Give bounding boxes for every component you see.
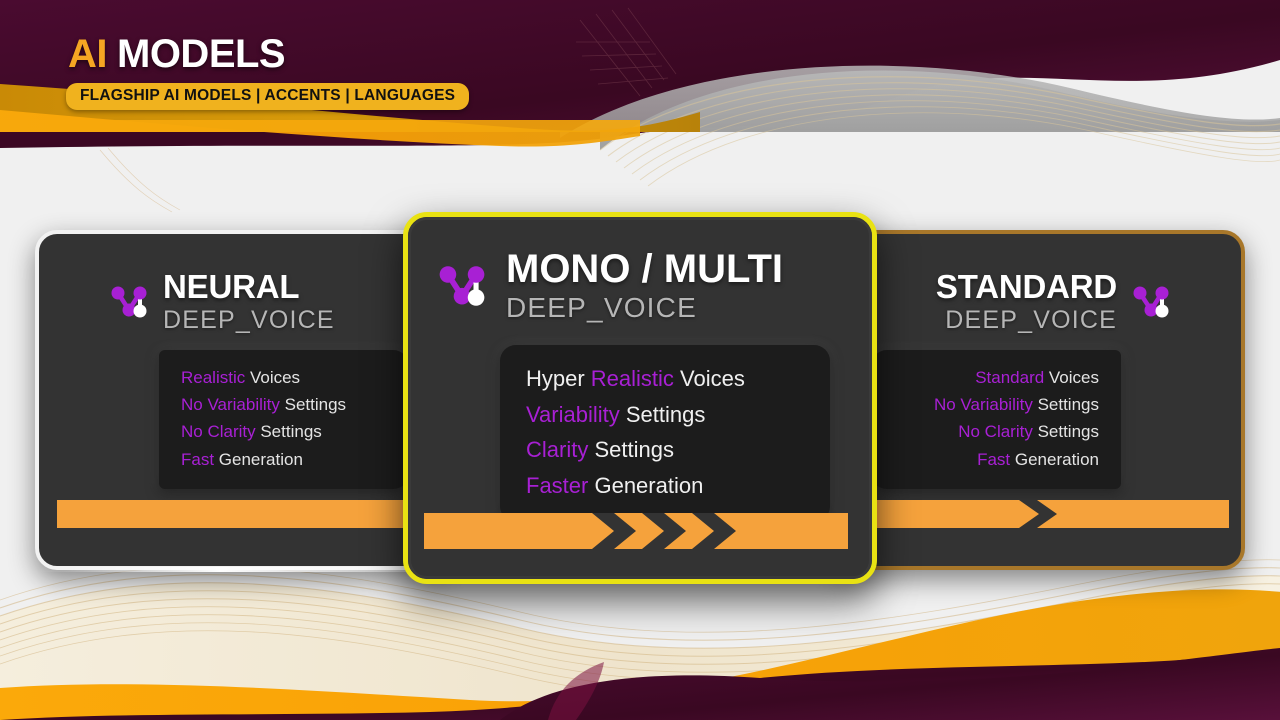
card-titles-neural: NEURAL DEEP_VOICE	[163, 270, 335, 333]
feature-highlight: Fast	[977, 450, 1010, 469]
feature-item: No Clarity Settings	[893, 418, 1099, 445]
feature-item: Hyper Realistic Voices	[526, 361, 804, 397]
progress-chevron-bar-mono-multi	[424, 513, 848, 549]
feature-tail: Voices	[1044, 368, 1099, 387]
card-subtitle-neural: DEEP_VOICE	[163, 308, 335, 333]
node-graph-icon	[436, 263, 488, 309]
feature-tail: Voices	[674, 366, 745, 391]
feature-tail: Settings	[280, 395, 346, 414]
page-title: AIMODELS	[68, 34, 285, 74]
feature-panel-neural: Realistic Voices No Variability Settings…	[159, 350, 409, 489]
card-title-standard: STANDARD	[936, 270, 1117, 303]
feature-item: Faster Generation	[526, 468, 804, 504]
feature-highlight: Fast	[181, 450, 214, 469]
node-graph-icon	[109, 284, 149, 320]
feature-tail: Generation	[214, 450, 303, 469]
card-titles-mono-multi: MONO / MULTI DEEP_VOICE	[506, 249, 783, 322]
card-header-neural: NEURAL DEEP_VOICE	[109, 270, 335, 333]
card-header-standard: STANDARD DEEP_VOICE	[936, 270, 1171, 333]
feature-tail: Generation	[1010, 450, 1099, 469]
model-card-mono-multi[interactable]: MONO / MULTI DEEP_VOICE Hyper Realistic …	[403, 212, 877, 584]
card-title-neural: NEURAL	[163, 270, 335, 303]
feature-lead: Hyper	[526, 366, 591, 391]
card-subtitle-mono-multi: DEEP_VOICE	[506, 294, 783, 322]
feature-item: Clarity Settings	[526, 432, 804, 468]
card-subtitle-standard: DEEP_VOICE	[945, 308, 1117, 333]
feature-tail: Settings	[256, 422, 322, 441]
feature-highlight: Realistic	[591, 366, 674, 391]
feature-highlight: No Clarity	[181, 422, 256, 441]
feature-highlight: Realistic	[181, 368, 245, 387]
page-title-rest: MODELS	[117, 32, 285, 76]
feature-tail: Settings	[1033, 422, 1099, 441]
feature-panel-standard: Standard Voices No Variability Settings …	[871, 350, 1121, 489]
feature-tail: Voices	[245, 368, 300, 387]
feature-item: Fast Generation	[893, 446, 1099, 473]
model-card-standard[interactable]: STANDARD DEEP_VOICE Standard Voices No V…	[835, 230, 1245, 570]
feature-tail: Settings	[588, 437, 674, 462]
feature-item: Variability Settings	[526, 397, 804, 433]
feature-item: No Variability Settings	[893, 391, 1099, 418]
card-header-mono-multi: MONO / MULTI DEEP_VOICE	[436, 249, 783, 322]
node-graph-icon	[1131, 284, 1171, 320]
card-titles-standard: STANDARD DEEP_VOICE	[936, 270, 1117, 333]
feature-panel-mono-multi: Hyper Realistic Voices Variability Setti…	[500, 345, 830, 522]
feature-item: Fast Generation	[181, 446, 387, 473]
feature-tail: Settings	[1033, 395, 1099, 414]
feature-highlight: Clarity	[526, 437, 588, 462]
feature-item: Standard Voices	[893, 364, 1099, 391]
feature-highlight: Faster	[526, 473, 588, 498]
slide-header: AIMODELS FLAGSHIP AI MODELS | ACCENTS | …	[0, 0, 640, 130]
subtitle-badge: FLAGSHIP AI MODELS | ACCENTS | LANGUAGES	[66, 83, 469, 110]
card-title-mono-multi: MONO / MULTI	[506, 249, 783, 289]
feature-highlight: Variability	[526, 402, 620, 427]
feature-tail: Settings	[620, 402, 706, 427]
feature-item: No Variability Settings	[181, 391, 387, 418]
feature-item: Realistic Voices	[181, 364, 387, 391]
feature-highlight: No Clarity	[958, 422, 1033, 441]
feature-tail: Generation	[588, 473, 703, 498]
feature-item: No Clarity Settings	[181, 418, 387, 445]
feature-highlight: No Variability	[181, 395, 280, 414]
feature-highlight: No Variability	[934, 395, 1033, 414]
page-title-accent: AI	[68, 32, 107, 76]
feature-highlight: Standard	[975, 368, 1044, 387]
chevron-arrow-icon	[424, 513, 848, 549]
